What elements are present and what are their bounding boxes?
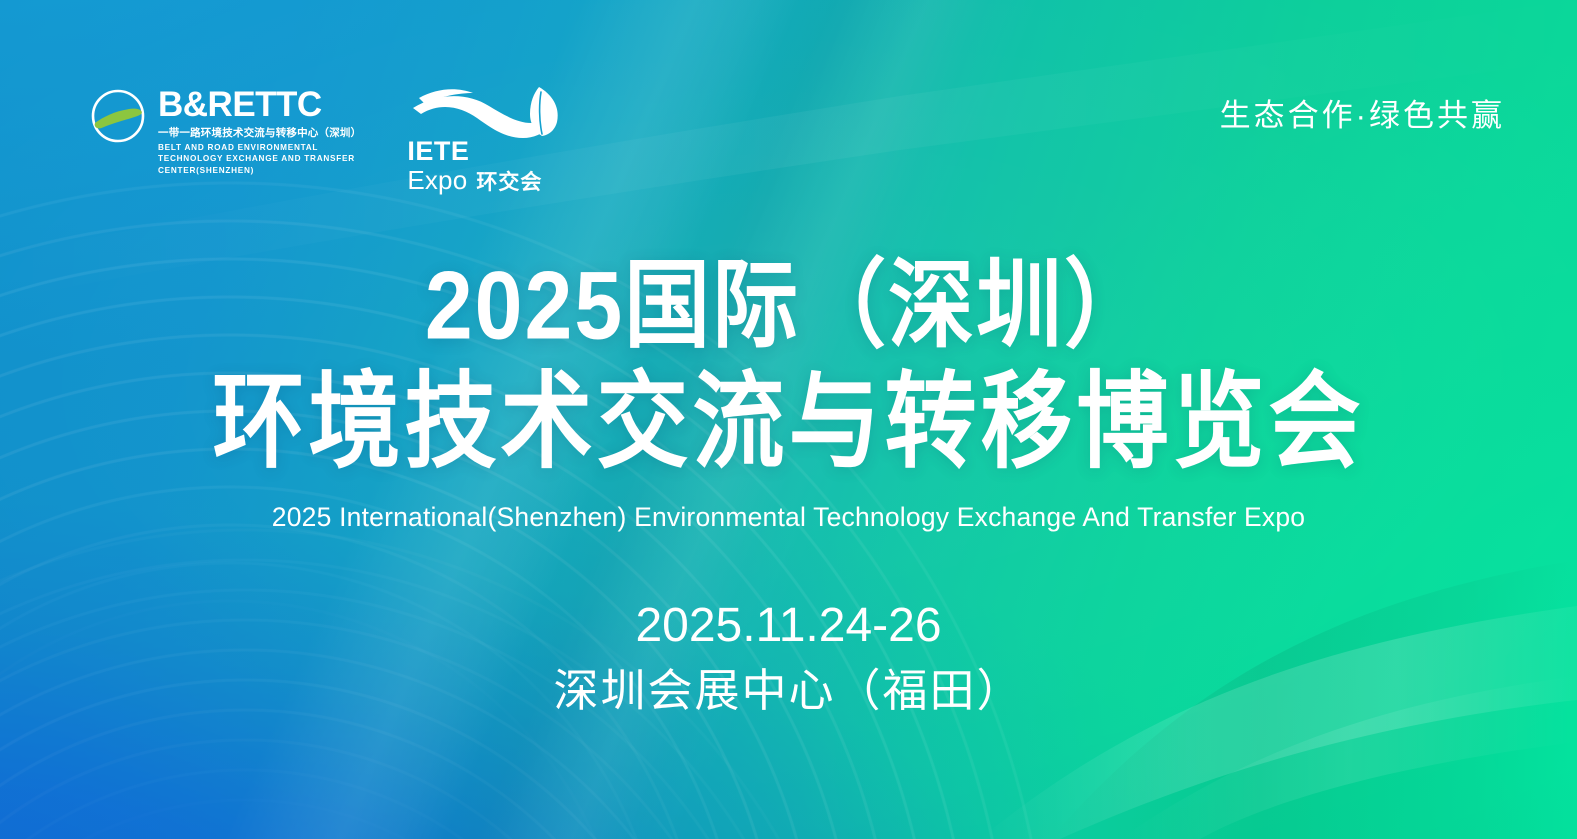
brettc-name-cn: 一带一路环境技术交流与转移中心（深圳）: [158, 126, 361, 140]
title-english: 2025 International(Shenzhen) Environment…: [0, 502, 1577, 534]
brettc-logo: B&RETTC 一带一路环境技术交流与转移中心（深圳） BELT AND ROA…: [90, 86, 361, 176]
event-date: 2025.11.24-26: [0, 600, 1577, 653]
iete-expo-logo: IETE Expo 环交会: [405, 86, 565, 190]
event-details-block: 2025.11.24-26 深圳会展中心（福田）: [0, 600, 1577, 717]
iete-cn-word: 环交会: [476, 172, 542, 194]
brettc-wordmark: B&RETTC: [158, 87, 361, 122]
brettc-globe-mark: [90, 88, 146, 144]
banner-header: B&RETTC 一带一路环境技术交流与转移中心（深圳） BELT AND ROA…: [0, 0, 1577, 210]
iete-expo-word: Expo: [407, 167, 467, 194]
iete-text-block: IETE Expo 环交会: [407, 138, 542, 194]
main-title-block: 2025国际（深圳） 环境技术交流与转移博览会 2025 Internation…: [0, 258, 1577, 534]
title-line-1: 2025国际（深圳）: [0, 258, 1577, 354]
event-venue: 深圳会展中心（福田）: [0, 665, 1577, 717]
title-line-2: 环境技术交流与转移博览会: [0, 370, 1577, 475]
brettc-name-en: BELT AND ROAD ENVIRONMENTAL TECHNOLOGY E…: [158, 142, 358, 176]
brettc-text-block: B&RETTC 一带一路环境技术交流与转移中心（深圳） BELT AND ROA…: [158, 86, 361, 176]
iete-wordmark: IETE: [407, 138, 542, 166]
logo-group: B&RETTC 一带一路环境技术交流与转移中心（深圳） BELT AND ROA…: [90, 86, 565, 190]
iete-subline: Expo 环交会: [407, 167, 542, 194]
expo-promotional-banner: B&RETTC 一带一路环境技术交流与转移中心（深圳） BELT AND ROA…: [0, 0, 1577, 839]
header-slogan: 生态合作·绿色共赢: [1220, 86, 1505, 131]
